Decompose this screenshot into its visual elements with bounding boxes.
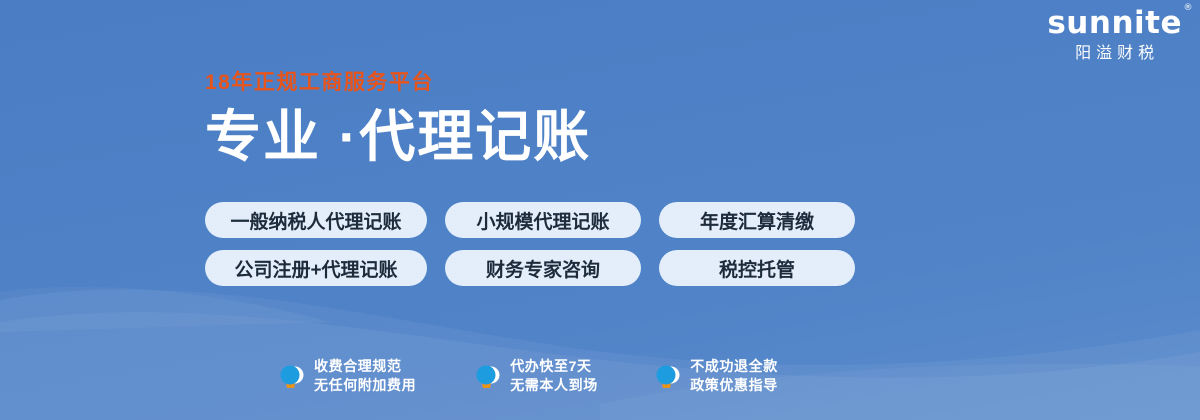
service-pill-finance-consulting[interactable]: 财务专家咨询	[445, 250, 641, 286]
feature-item-pricing: 收费合理规范 无任何附加费用	[278, 359, 416, 392]
feature-line-2: 无需本人到场	[510, 378, 598, 392]
hero-copy: 18年正规工商服务平台 专业 ·代理记账	[205, 72, 591, 165]
feature-line-1: 代办快至7天	[510, 359, 598, 373]
feature-strip: 收费合理规范 无任何附加费用 代办快至7天 无需本人到场	[278, 359, 772, 392]
moon-circle-icon	[474, 361, 500, 391]
feature-line-1: 不成功退全款	[690, 359, 778, 373]
service-pill-row-2: 公司注册+代理记账 财务专家咨询 税控托管	[205, 250, 855, 286]
service-pill-tax-control-hosting[interactable]: 税控托管	[659, 250, 855, 286]
brand-logo: sunnite ® 阳溢财税	[1047, 8, 1182, 62]
feature-item-speed: 代办快至7天 无需本人到场	[474, 359, 596, 392]
promo-banner: sunnite ® 阳溢财税 18年正规工商服务平台 专业 ·代理记账 一般纳税…	[0, 0, 1200, 420]
service-pill-grid: 一般纳税人代理记账 小规模代理记账 年度汇算清缴 公司注册+代理记账 财务专家咨…	[205, 202, 855, 286]
moon-circle-icon	[654, 361, 680, 391]
feature-line-2: 政策优惠指导	[690, 378, 778, 392]
feature-item-refund: 不成功退全款 政策优惠指导	[654, 359, 772, 392]
brand-chinese-name: 阳溢财税	[1047, 46, 1182, 62]
brand-wordmark: sunnite ®	[1047, 8, 1182, 39]
brand-wordmark-text: sunnite	[1047, 5, 1182, 41]
service-pill-company-registration[interactable]: 公司注册+代理记账	[205, 250, 427, 286]
feature-text-refund: 不成功退全款 政策优惠指导	[690, 359, 778, 392]
feature-line-1: 收费合理规范	[314, 359, 416, 373]
moon-circle-icon	[278, 361, 304, 391]
service-pill-general-taxpayer[interactable]: 一般纳税人代理记账	[205, 202, 427, 238]
service-pill-row-1: 一般纳税人代理记账 小规模代理记账 年度汇算清缴	[205, 202, 855, 238]
page-title: 专业 ·代理记账	[205, 109, 591, 165]
service-pill-small-scale[interactable]: 小规模代理记账	[445, 202, 641, 238]
hero-eyebrow: 18年正规工商服务平台	[205, 72, 591, 93]
feature-text-speed: 代办快至7天 无需本人到场	[510, 359, 598, 392]
feature-text-pricing: 收费合理规范 无任何附加费用	[314, 359, 416, 392]
service-pill-annual-settlement[interactable]: 年度汇算清缴	[659, 202, 855, 238]
registered-trademark-icon: ®	[1184, 4, 1194, 13]
feature-line-2: 无任何附加费用	[314, 378, 416, 392]
